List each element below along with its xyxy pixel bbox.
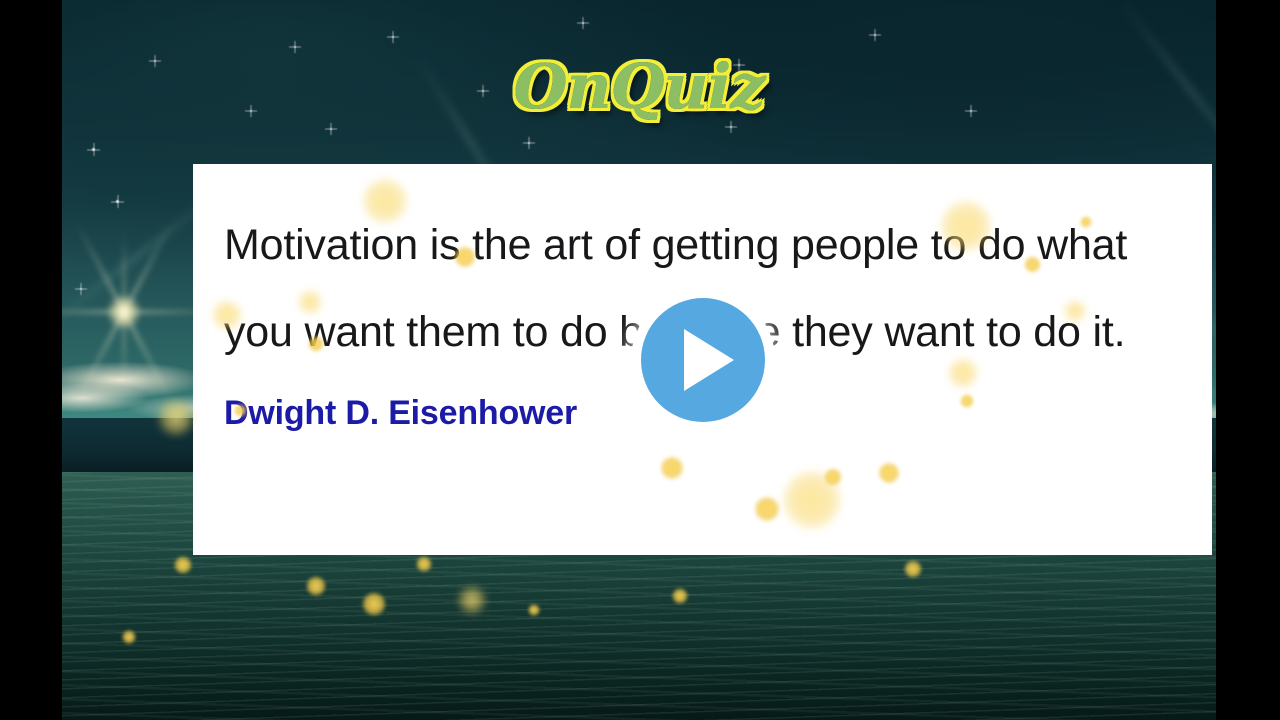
letterbox-bar-left [0,0,62,720]
star-sparkle [528,142,530,144]
star-sparkle [730,126,732,128]
star-sparkle [154,60,156,62]
star-sparkle [970,110,972,112]
star-sparkle [874,34,876,36]
play-triangle-icon [684,329,734,391]
video-player-stage: Motivation is the art of getting people … [0,0,1280,720]
video-frame: Motivation is the art of getting people … [62,0,1216,720]
letterbox-bar-right [1216,0,1280,720]
star-sparkle [92,148,95,151]
star-sparkle [582,22,584,24]
play-button-disc [641,298,765,422]
star-sparkle [250,110,252,112]
star-sparkle [738,64,740,66]
star-sparkle [330,128,332,130]
star-sparkle [392,36,394,38]
play-button[interactable] [631,288,775,432]
star-sparkle [80,288,82,290]
star-sparkle [294,46,296,48]
star-sparkle [116,200,119,203]
star-sparkle [482,90,484,92]
